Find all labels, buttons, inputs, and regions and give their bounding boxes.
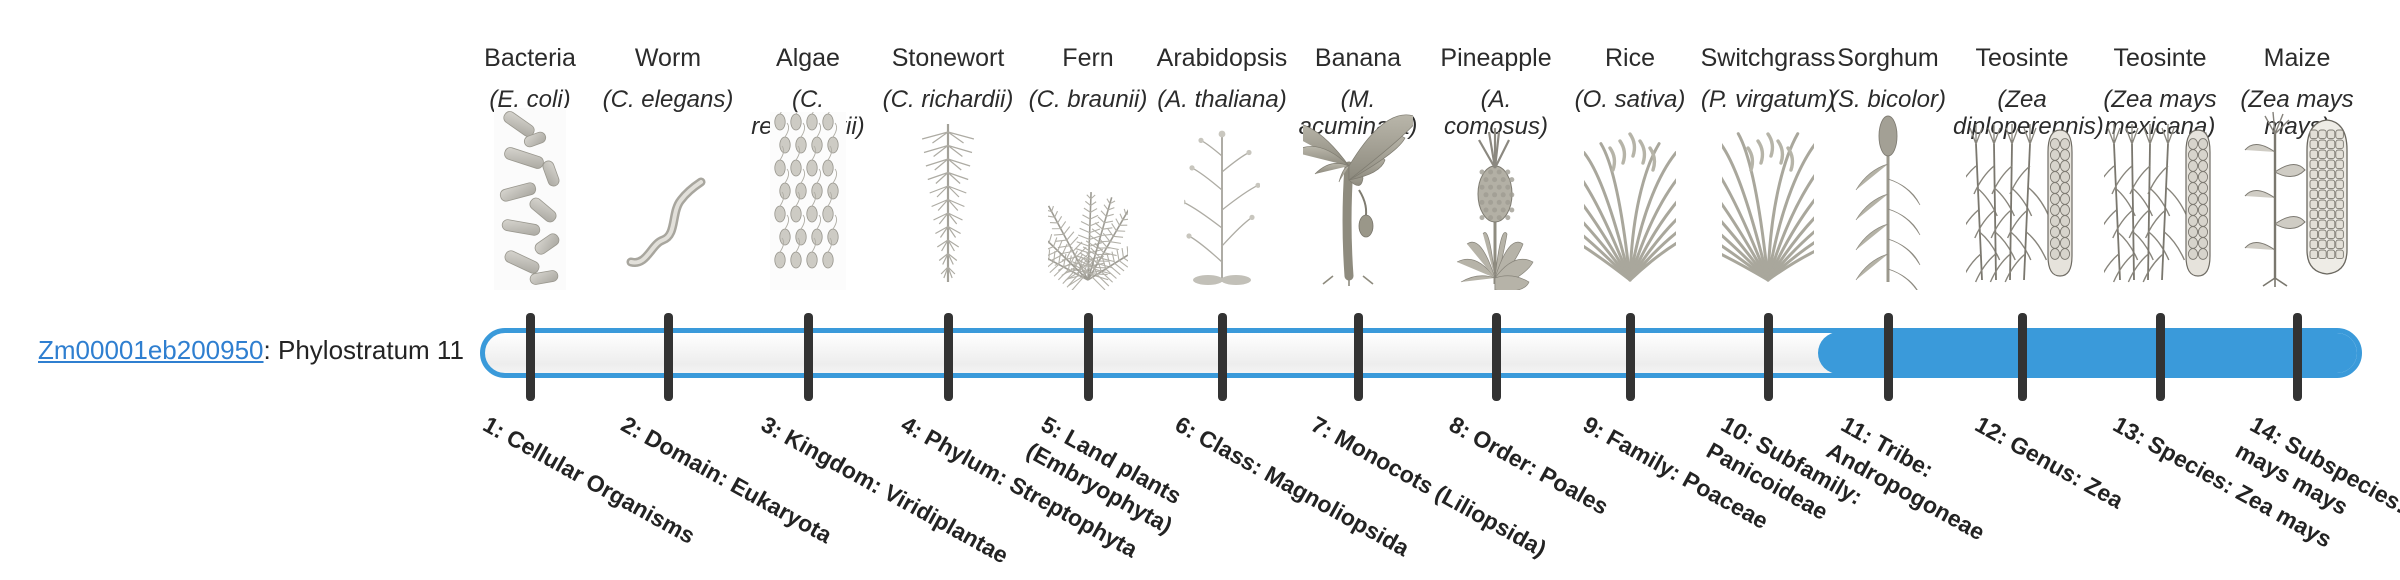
phylostratum-tick-12[interactable] xyxy=(2018,313,2027,401)
phylostratum-tick-1[interactable] xyxy=(526,313,535,401)
phylostratum-rank-label-8: 8: Order: Poales xyxy=(1444,410,1703,572)
pineapple-illustration xyxy=(1420,170,1572,290)
rice-illustration xyxy=(1554,170,1706,290)
phylostratum-rank-label-7: 7: Monocots (Liliopsida) xyxy=(1306,410,1565,572)
species-common-name: Rice xyxy=(1561,44,1699,72)
teosinte-illustration xyxy=(1946,170,2098,290)
phylostratum-tick-3[interactable] xyxy=(804,313,813,401)
rank-number: 1: xyxy=(479,411,509,444)
gene-accession-link[interactable]: Zm00001eb200950 xyxy=(38,335,264,365)
species-common-name: Pineapple xyxy=(1427,44,1565,72)
phylostratum-rank-label-2: 2: Domain: Eukaryota xyxy=(616,410,875,572)
species-common-name: Banana xyxy=(1289,44,1427,72)
maize-illustration xyxy=(2221,170,2373,290)
species-column-worm-2: Worm(C. elegans) xyxy=(599,44,737,113)
rank-number: 4: xyxy=(897,411,927,444)
species-common-name: Bacteria xyxy=(461,44,599,72)
species-column-switchgrass-10: Switchgrass(P. virgatum) xyxy=(1699,44,1837,113)
species-common-name: Algae xyxy=(739,44,877,72)
phylostratum-value-text: Phylostratum 11 xyxy=(278,335,464,365)
species-common-name: Maize xyxy=(2228,44,2366,72)
rank-number: 13: xyxy=(2109,411,2151,450)
banana-illustration xyxy=(1282,170,1434,290)
sorghum-illustration xyxy=(1812,170,1964,290)
phylostratum-tick-14[interactable] xyxy=(2293,313,2302,401)
worm-illustration xyxy=(592,170,744,290)
phylostratum-tick-7[interactable] xyxy=(1354,313,1363,401)
phylostratigraphy-figure: Zm00001eb200950: Phylostratum 11 Bacteri… xyxy=(0,0,2400,580)
species-common-name: Fern xyxy=(1019,44,1157,72)
species-common-name: Sorghum xyxy=(1819,44,1957,72)
teosinte-illustration xyxy=(2084,170,2236,290)
rank-number: 5: xyxy=(1037,411,1067,444)
species-common-name: Switchgrass xyxy=(1699,44,1837,72)
phylostratum-track-fill xyxy=(1818,332,2362,374)
rank-number: 12: xyxy=(1971,411,2013,450)
fern-illustration xyxy=(1012,170,1164,290)
species-common-name: Teosinte xyxy=(2091,44,2229,72)
phylostratum-tick-13[interactable] xyxy=(2156,313,2165,401)
rank-number: 9: xyxy=(1579,411,1609,444)
species-common-name: Stonewort xyxy=(879,44,1017,72)
species-column-fern-5: Fern(C. braunii) xyxy=(1019,44,1157,113)
species-scientific-name: (C. braunii) xyxy=(1019,86,1157,113)
phylostratum-rank-label-3: 3: Kingdom: Viridiplantae xyxy=(756,410,1015,572)
phylostratum-tick-11[interactable] xyxy=(1884,313,1893,401)
rank-number: 6: xyxy=(1171,411,1201,444)
phylostratum-tick-6[interactable] xyxy=(1218,313,1227,401)
species-column-arabidopsis-6: Arabidopsis(A. thaliana) xyxy=(1153,44,1291,113)
rank-text: Genus: Zea xyxy=(2006,430,2128,513)
species-scientific-name: (A. thaliana) xyxy=(1153,86,1291,113)
phylostratum-track[interactable] xyxy=(480,328,2362,378)
species-column-sorghum-11: Sorghum(S. bicolor) xyxy=(1819,44,1957,113)
species-common-name: Arabidopsis xyxy=(1153,44,1291,72)
species-common-name: Worm xyxy=(599,44,737,72)
species-column-bacteria-1: Bacteria(E. coli) xyxy=(461,44,599,113)
phylostratum-tick-10[interactable] xyxy=(1764,313,1773,401)
rank-number: 8: xyxy=(1445,411,1475,444)
phylostratum-tick-4[interactable] xyxy=(944,313,953,401)
phylostratum-tick-2[interactable] xyxy=(664,313,673,401)
phylostratum-tick-9[interactable] xyxy=(1626,313,1635,401)
species-column-rice-9: Rice(O. sativa) xyxy=(1561,44,1699,113)
gene-phylostratum-label: Zm00001eb200950: Phylostratum 11 xyxy=(38,337,464,363)
phylostratum-tick-8[interactable] xyxy=(1492,313,1501,401)
stonewort-illustration xyxy=(872,170,1024,290)
species-column-stonewort-4: Stonewort(C. richardii) xyxy=(879,44,1017,113)
bacteria-illustration xyxy=(454,170,606,290)
rank-number: 3: xyxy=(757,411,787,444)
rank-number: 7: xyxy=(1307,411,1337,444)
rank-number: 2: xyxy=(617,411,647,444)
phylostratum-rank-label-1: 1: Cellular Organisms xyxy=(478,410,737,572)
algae-illustration xyxy=(732,170,884,290)
gene-label-separator: : xyxy=(264,335,278,365)
phylostratum-tick-5[interactable] xyxy=(1084,313,1093,401)
arabidopsis-illustration xyxy=(1146,170,1298,290)
species-common-name: Teosinte xyxy=(1953,44,2091,72)
species-scientific-name: (C. elegans) xyxy=(599,86,737,113)
